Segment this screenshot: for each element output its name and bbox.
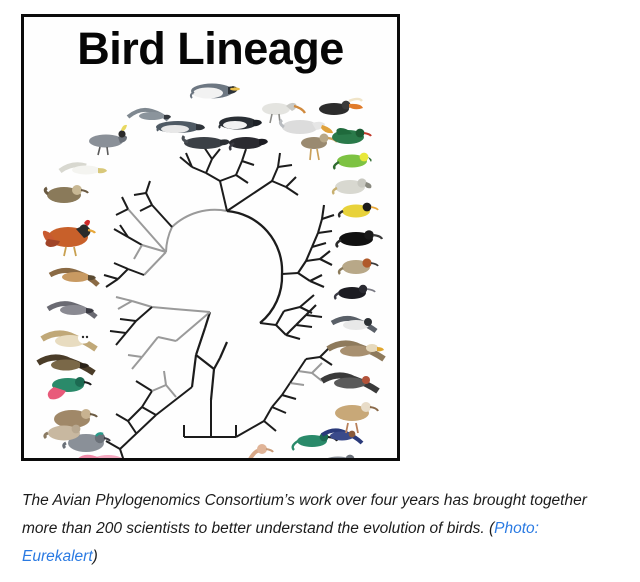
- bird-adelie-penguin: [219, 117, 262, 130]
- bird-red-tailed-hawk: [50, 270, 98, 285]
- bird-red-junglefowl: [43, 220, 95, 256]
- bird-great-cormorant: [183, 136, 230, 149]
- bird-budgerigar: [334, 153, 371, 169]
- caption-text-after: ): [93, 548, 98, 565]
- cladogram-branches: [104, 147, 334, 458]
- bird-emperor-penguin: [191, 84, 240, 99]
- bird-barn-owl: [42, 333, 96, 350]
- bird-crested-ibis: [262, 103, 305, 123]
- bird-common-loon: [229, 137, 268, 150]
- bird-grey-crowned-crane: [89, 125, 127, 155]
- bird-red-legged-seriema: [335, 402, 378, 433]
- bird-golden-eagle: [38, 357, 94, 373]
- bird-downy-woodpecker: [332, 128, 371, 144]
- figure-caption: The Avian Phylogenomics Consortium’s wor…: [22, 487, 612, 571]
- bird-common-starling: [335, 285, 375, 299]
- bird-european-robin: [339, 258, 378, 274]
- bird-blue-crowned-trogon: [48, 377, 91, 399]
- article-figure-page: Bird Lineage: [0, 0, 640, 582]
- bird-northern-fulmar: [128, 110, 171, 120]
- bird-kea-parrot: [333, 178, 371, 194]
- bird-peregrine-falcon: [332, 318, 376, 331]
- bird-common-cuckoo: [319, 455, 361, 458]
- bird-common-tinamou: [45, 185, 88, 203]
- bird-american-crow: [337, 230, 382, 247]
- bird-dalmatian-pelican: [280, 120, 333, 134]
- bird-common-ostrich: [206, 444, 273, 458]
- bird-white-tailed-eagle: [328, 343, 384, 359]
- figure-canvas: Bird Lineage: [24, 17, 397, 458]
- bird-mourning-dove: [45, 425, 81, 441]
- radial-cladogram: [24, 69, 397, 458]
- bird-rhinoceros-hornbill: [319, 99, 363, 115]
- bird-eurasian-sparrowhawk: [48, 304, 96, 317]
- bird-killdeer-shorebird: [301, 134, 337, 161]
- figure-title: Bird Lineage: [24, 24, 397, 74]
- bird-northern-gannet: [60, 165, 107, 175]
- bird-little-penguin: [156, 121, 205, 133]
- figure-alt-text: Circular phylogenetic tree (radial clado…: [24, 17, 25, 18]
- bird-lineage-figure: Bird Lineage: [21, 14, 400, 461]
- bird-turkey-vulture: [322, 375, 378, 391]
- bird-american-goldfinch: [339, 203, 378, 218]
